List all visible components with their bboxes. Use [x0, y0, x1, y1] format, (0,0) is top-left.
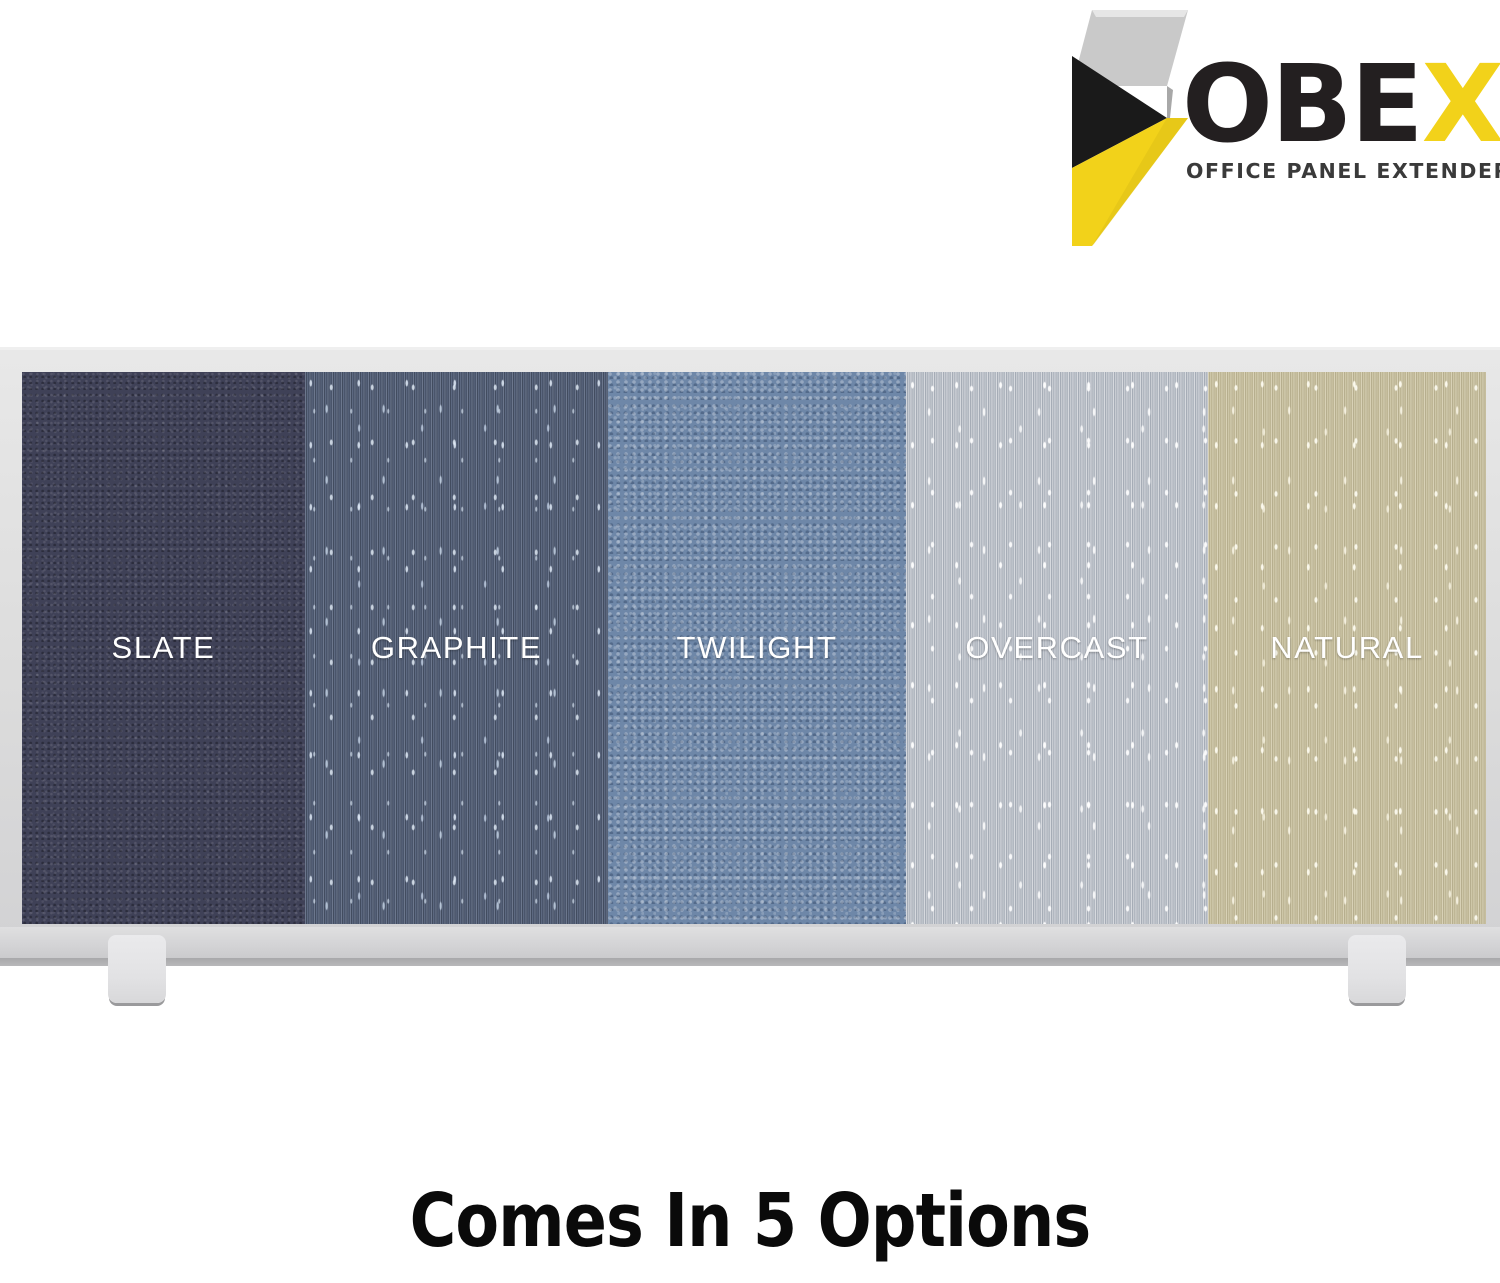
wordmark-x: X: [1422, 43, 1500, 167]
mounting-bracket-right: [1348, 935, 1406, 1003]
swatch-graphite[interactable]: GRAPHITE: [305, 372, 608, 924]
brand-logo: OBEX OFFICE PANEL EXTENDERS: [1070, 8, 1470, 248]
swatch-overcast[interactable]: OVERCAST: [906, 372, 1208, 924]
swatch-label-overcast: OVERCAST: [906, 630, 1208, 666]
swatch-label-twilight: TWILIGHT: [608, 630, 906, 666]
panel-frame: SLATE GRAPHITE TWILIGHT OVERCAST NATURAL: [0, 347, 1500, 942]
swatch-twilight[interactable]: TWILIGHT: [608, 372, 906, 924]
wordmark-obe: OBE: [1182, 43, 1422, 167]
caption-text: Comes In 5 Options: [105, 1178, 1395, 1264]
obex-wordmark: OBEX OFFICE PANEL EXTENDERS: [1182, 52, 1482, 212]
swatch-label-slate: SLATE: [22, 630, 305, 666]
swatch-slate[interactable]: SLATE: [22, 372, 305, 924]
panel-bottom-rail: [0, 927, 1500, 961]
logo-tagline: OFFICE PANEL EXTENDERS: [1182, 159, 1482, 183]
panel-rail-shadow: [0, 958, 1500, 966]
fabric-swatch-strip: SLATE GRAPHITE TWILIGHT OVERCAST NATURAL: [22, 372, 1486, 924]
swatch-natural[interactable]: NATURAL: [1208, 372, 1486, 924]
swatch-label-natural: NATURAL: [1208, 630, 1486, 666]
obex-chevron-mark-icon: [1070, 8, 1190, 248]
mounting-bracket-left: [108, 935, 166, 1003]
panel-extender-product: SLATE GRAPHITE TWILIGHT OVERCAST NATURAL: [0, 347, 1500, 1007]
swatch-label-graphite: GRAPHITE: [305, 630, 608, 666]
